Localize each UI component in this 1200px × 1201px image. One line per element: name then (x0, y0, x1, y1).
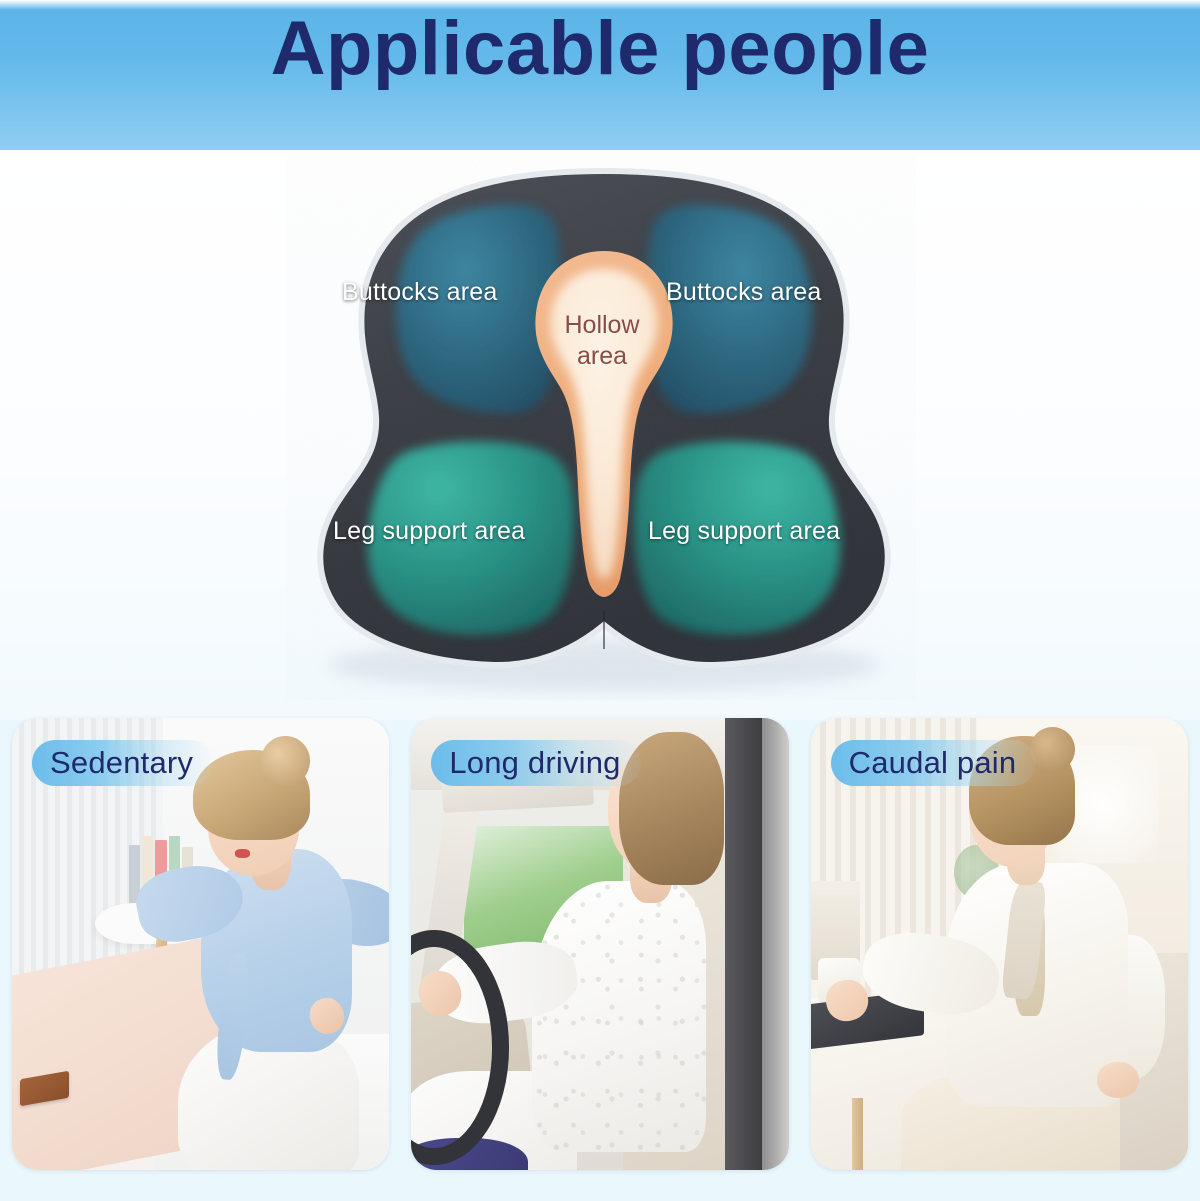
panel-badge-long-driving: Long driving (431, 740, 640, 786)
panel-badge-sedentary: Sedentary (32, 740, 213, 786)
use-case-panel-long-driving[interactable]: Long driving (411, 718, 788, 1170)
desk-leg (852, 1098, 863, 1170)
page-title: Applicable people (0, 8, 1200, 90)
lace-texture (532, 881, 706, 1152)
woman-lips (235, 849, 250, 858)
cushion-label-buttocks-right: Buttocks area (666, 278, 821, 307)
use-case-panel-group: Sedentary (0, 718, 1200, 1178)
poster-root: Applicable people (0, 0, 1200, 1201)
use-case-panel-caudal-pain[interactable]: Caudal pain (811, 718, 1188, 1170)
hollow-label-line1: Hollow (543, 310, 661, 341)
car-door-frame (725, 718, 763, 1170)
cushion-label-leg-left: Leg support area (333, 517, 525, 546)
panel-badge-caudal-pain: Caudal pain (831, 740, 1037, 786)
worker-hand-on-hip (1097, 1062, 1139, 1098)
cushion-label-buttocks-left: Buttocks area (342, 278, 497, 307)
cushion-label-hollow: Hollow area (543, 310, 661, 371)
hollow-label-line2: area (543, 341, 661, 372)
cushion-label-leg-right: Leg support area (648, 517, 840, 546)
cushion-diagram: Buttocks area Buttocks area Leg support … (286, 155, 916, 700)
woman-hair-bun (261, 736, 310, 786)
zone-buttocks-left (396, 205, 560, 414)
worker-hair-bun (1030, 727, 1075, 772)
use-case-panel-sedentary[interactable]: Sedentary (12, 718, 389, 1170)
zone-buttocks-right (648, 205, 812, 414)
car-door-edge (762, 718, 788, 1170)
